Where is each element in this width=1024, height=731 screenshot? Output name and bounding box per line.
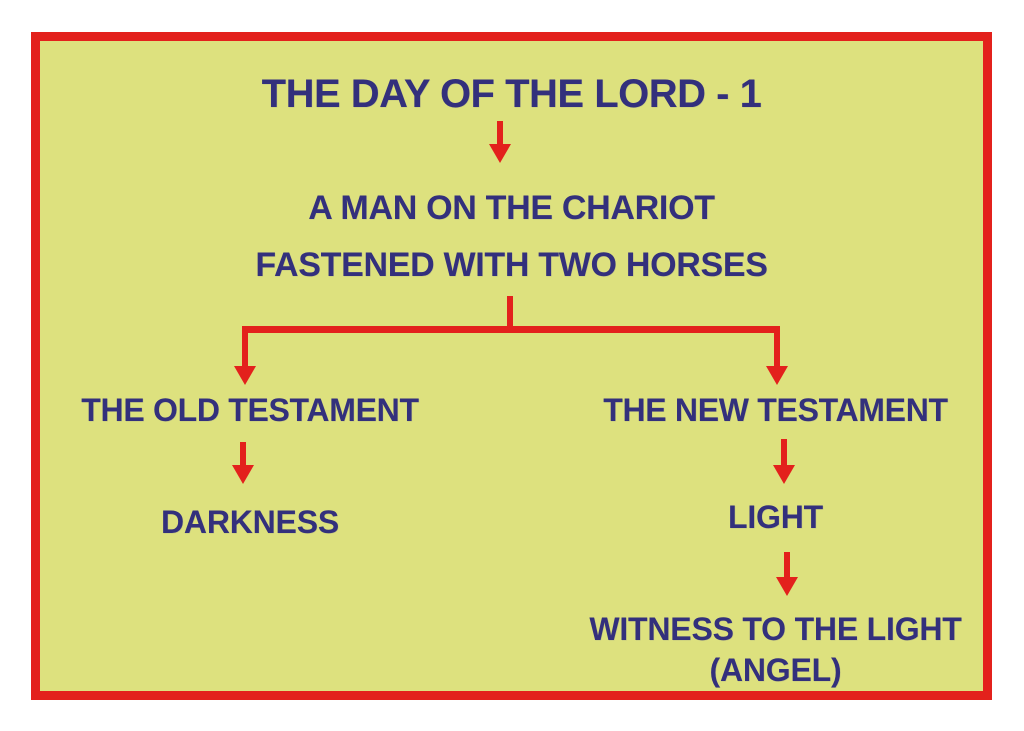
main-node-line1: A MAN ON THE CHARIOT [40,188,983,228]
arrow-root-to-main [485,121,515,163]
root-title: THE DAY OF THE LORD - 1 [40,71,983,118]
left-leaf-label: DARKNESS [40,504,460,542]
right-leaf-label: LIGHT [568,499,983,537]
right-leaf2-line1: WITNESS TO THE LIGHT [568,611,983,649]
fork-right-arrowhead [766,366,788,385]
diagram-panel: THE DAY OF THE LORD - 1 A MAN ON THE CHA… [31,32,992,700]
arrow-old-testament-to-darkness [230,442,256,484]
diagram-canvas: THE DAY OF THE LORD - 1 A MAN ON THE CHA… [0,0,1024,731]
fork-left-arrowhead [234,366,256,385]
main-node-line2: FASTENED WITH TWO HORSES [40,245,983,285]
arrow-light-to-witness [774,552,800,596]
arrow-new-testament-to-light [771,439,797,484]
right-leaf2-line2: (ANGEL) [568,652,983,690]
right-branch-label: THE NEW TESTAMENT [568,392,983,430]
left-branch-label: THE OLD TESTAMENT [40,392,460,430]
